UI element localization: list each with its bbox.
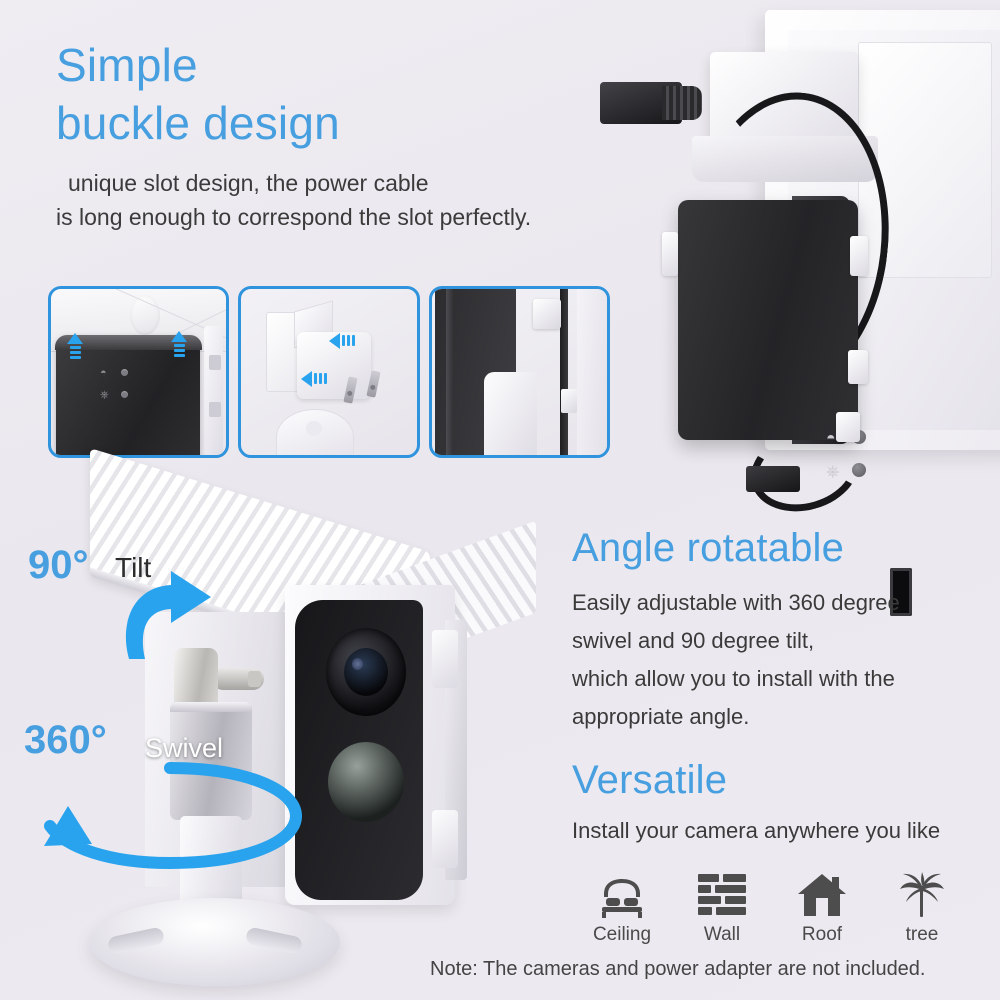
mount-clip-left xyxy=(662,232,678,276)
angle-desc-line-2: swivel and 90 degree tilt, xyxy=(572,622,992,660)
headline-subtext: unique slot design, the power cable is l… xyxy=(56,166,616,234)
versatile-description: Install your camera anywhere you like xyxy=(572,814,992,848)
mount-side-rail xyxy=(204,326,223,455)
camera-body-front: ◓ ⎈ xyxy=(678,200,858,440)
bracket-base-plate xyxy=(276,409,353,458)
infographic-canvas: ◓ ⎈ Simple buckle design unique slot des… xyxy=(0,0,1000,1000)
swivel-label: Swivel xyxy=(145,733,223,764)
angle-rotatable-description: Easily adjustable with 360 degree swivel… xyxy=(572,584,992,736)
pir-sensor-dome xyxy=(328,742,404,822)
place-label-ceiling: Ceiling xyxy=(572,924,672,946)
wall-brick-icon xyxy=(672,866,772,918)
angle-desc-line-1: Easily adjustable with 360 degree xyxy=(572,584,992,622)
wifi-icon: ◓ xyxy=(100,367,107,379)
swivel-arrow-icon xyxy=(38,760,303,870)
angle-desc-line-4: appropriate angle. xyxy=(572,698,992,736)
versatile-heading: Versatile xyxy=(572,754,992,806)
insert-arrow-left xyxy=(67,333,83,359)
power-led-dot xyxy=(121,391,128,398)
mount-clip-right-bottom xyxy=(848,350,868,384)
swivel-angle-value: 360° xyxy=(24,718,107,763)
thumbnail-camera-slide-into-mount: ◓ ⎈ xyxy=(48,286,229,458)
buckle-clip-bottom xyxy=(561,389,577,414)
tilt-joint-rod xyxy=(212,668,264,690)
thumb2-scene xyxy=(241,289,416,455)
outlet-adapter-photo: ◓ ⎈ xyxy=(600,0,1000,520)
tilt-angle-value: 90° xyxy=(28,543,89,588)
thumbnail-buckle-slot-detail xyxy=(429,286,610,458)
headline-subtext-line-1: unique slot design, the power cable xyxy=(56,166,616,200)
camera-lens-highlight xyxy=(352,658,363,670)
thumb3-scene xyxy=(432,289,607,455)
housing-notch-bottom xyxy=(432,810,458,868)
roof-house-icon xyxy=(772,866,872,918)
headline-subtext-line-2: is long enough to correspond the slot pe… xyxy=(56,200,616,234)
camera-body-seam xyxy=(446,286,453,458)
insert-arrow-top xyxy=(329,333,355,348)
install-places-row: Ceiling Wall xyxy=(572,866,972,946)
cable-strain-relief xyxy=(662,86,702,120)
ceiling-icon xyxy=(572,866,672,918)
power-icon: ⎈ xyxy=(100,389,109,402)
thumbnail-adapter-insert xyxy=(238,286,419,458)
headline-block: Simple buckle design unique slot design,… xyxy=(56,36,616,234)
disclaimer-note: Note: The cameras and power adapter are … xyxy=(430,958,926,981)
place-item-ceiling: Ceiling xyxy=(572,866,672,946)
background-panel xyxy=(577,286,607,458)
wifi-led-dot xyxy=(121,369,128,376)
mount-clip-right-top xyxy=(850,236,868,276)
mount-tab-lower xyxy=(209,402,221,417)
birdhouse-camera-photo xyxy=(30,480,590,980)
palm-tree-icon xyxy=(872,866,972,918)
housing-notch-top xyxy=(432,630,458,688)
step-thumbnail-strip: ◓ ⎈ xyxy=(48,286,610,458)
insert-arrow-bottom xyxy=(301,371,327,386)
place-item-roof: Roof xyxy=(772,866,872,946)
headline-line-2: buckle design xyxy=(56,94,616,152)
place-item-tree: tree xyxy=(872,866,972,946)
feature-text-column: Angle rotatable Easily adjustable with 3… xyxy=(572,522,992,848)
angle-desc-line-3: which allow you to install with the xyxy=(572,660,992,698)
place-item-wall: Wall xyxy=(672,866,772,946)
place-label-wall: Wall xyxy=(672,924,772,946)
buckle-clip-top xyxy=(533,299,561,329)
place-label-roof: Roof xyxy=(772,924,872,946)
power-cable-connector xyxy=(746,466,800,492)
tilt-arrow-icon xyxy=(115,563,225,663)
mount-tab-upper xyxy=(209,355,221,370)
camera-lens-inner xyxy=(344,648,388,696)
buckle-slot xyxy=(484,372,537,458)
insert-arrow-right xyxy=(171,331,187,357)
thumb1-scene: ◓ ⎈ xyxy=(51,289,226,455)
place-label-tree: tree xyxy=(872,924,972,946)
headline-line-1: Simple xyxy=(56,36,616,94)
angle-rotatable-heading: Angle rotatable xyxy=(572,522,992,574)
